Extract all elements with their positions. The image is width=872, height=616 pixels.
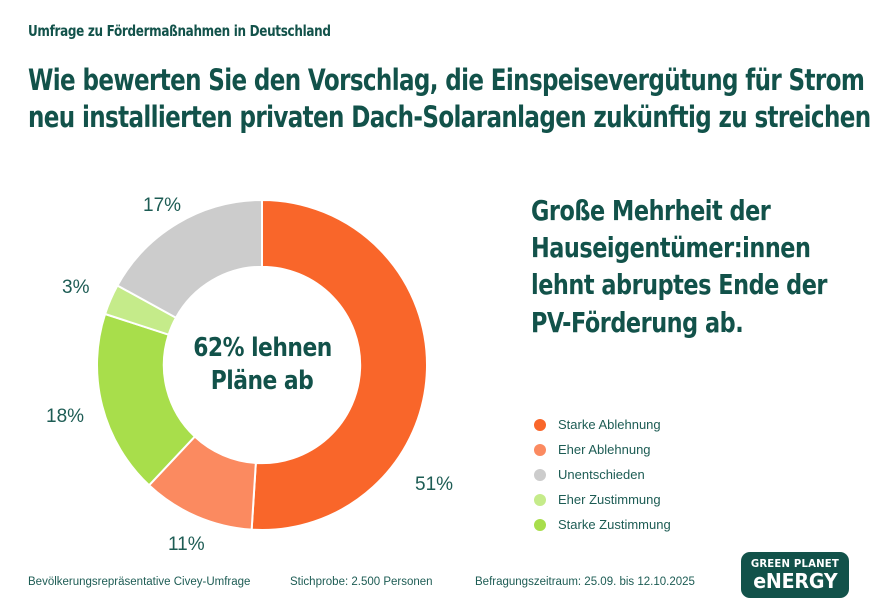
legend-item-label: Starke Zustimmung <box>558 517 671 532</box>
legend-item[interactable]: Eher Zustimmung <box>534 487 671 512</box>
legend-color-swatch-icon <box>534 444 546 456</box>
slice-label-starke-ablehnung: 51% <box>415 474 453 496</box>
legend-item[interactable]: Starke Ablehnung <box>534 412 671 437</box>
donut-slice-group <box>97 200 427 530</box>
legend-item-label: Eher Zustimmung <box>558 492 661 507</box>
donut-slice <box>252 200 427 530</box>
legend-color-swatch-icon <box>534 519 546 531</box>
slice-label-eher-zustimmung: 3% <box>62 277 89 299</box>
headline-line-1: Wie bewerten Sie den Vorschlag, die Eins… <box>28 62 871 99</box>
logo-text-bottom: eNERGY <box>753 571 837 592</box>
legend-item[interactable]: Eher Ablehnung <box>534 437 671 462</box>
chart-legend: Starke AblehnungEher AblehnungUnentschie… <box>534 412 671 537</box>
legend-item[interactable]: Starke Zustimmung <box>534 512 671 537</box>
slice-label-unentschieden: 17% <box>143 195 181 217</box>
slice-label-starke-zustimmung: 18% <box>46 406 84 428</box>
infographic-canvas: Umfrage zu Fördermaßnahmen in Deutschlan… <box>0 0 872 616</box>
green-planet-energy-logo: GREEN PLANET eNERGY <box>741 552 849 598</box>
kicker-text: Umfrage zu Fördermaßnahmen in Deutschlan… <box>28 22 331 40</box>
legend-color-swatch-icon <box>534 419 546 431</box>
page-title: Wie bewerten Sie den Vorschlag, die Eins… <box>28 62 871 136</box>
donut-chart: 62% lehnen Pläne ab <box>97 200 427 530</box>
legend-item-label: Unentschieden <box>558 467 645 482</box>
footer-survey-period: Befragungszeitraum: 25.09. bis 12.10.202… <box>475 576 695 588</box>
callout-line-2: Hauseigentümer:innen <box>531 229 872 266</box>
footer-meta: Bevölkerungsrepräsentative Civey-Umfrage… <box>28 576 728 588</box>
callout-line-3: lehnt abruptes Ende der <box>531 266 872 303</box>
legend-item-label: Eher Ablehnung <box>558 442 651 457</box>
callout-line-1: Große Mehrheit der <box>531 192 872 229</box>
legend-item-label: Starke Ablehnung <box>558 417 661 432</box>
donut-chart-svg <box>97 200 427 530</box>
headline-line-2: neu installierten privaten Dach-Solaranl… <box>28 99 871 136</box>
legend-color-swatch-icon <box>534 469 546 481</box>
legend-item[interactable]: Unentschieden <box>534 462 671 487</box>
callout-line-4: PV-Förderung ab. <box>531 304 872 341</box>
footer-survey-type: Bevölkerungsrepräsentative Civey-Umfrage <box>28 576 290 588</box>
callout-statement: Große Mehrheit der Hauseigentümer:innen … <box>531 192 872 341</box>
legend-color-swatch-icon <box>534 494 546 506</box>
slice-label-eher-ablehnung: 11% <box>168 534 205 556</box>
footer-sample-size: Stichprobe: 2.500 Personen <box>290 576 475 588</box>
